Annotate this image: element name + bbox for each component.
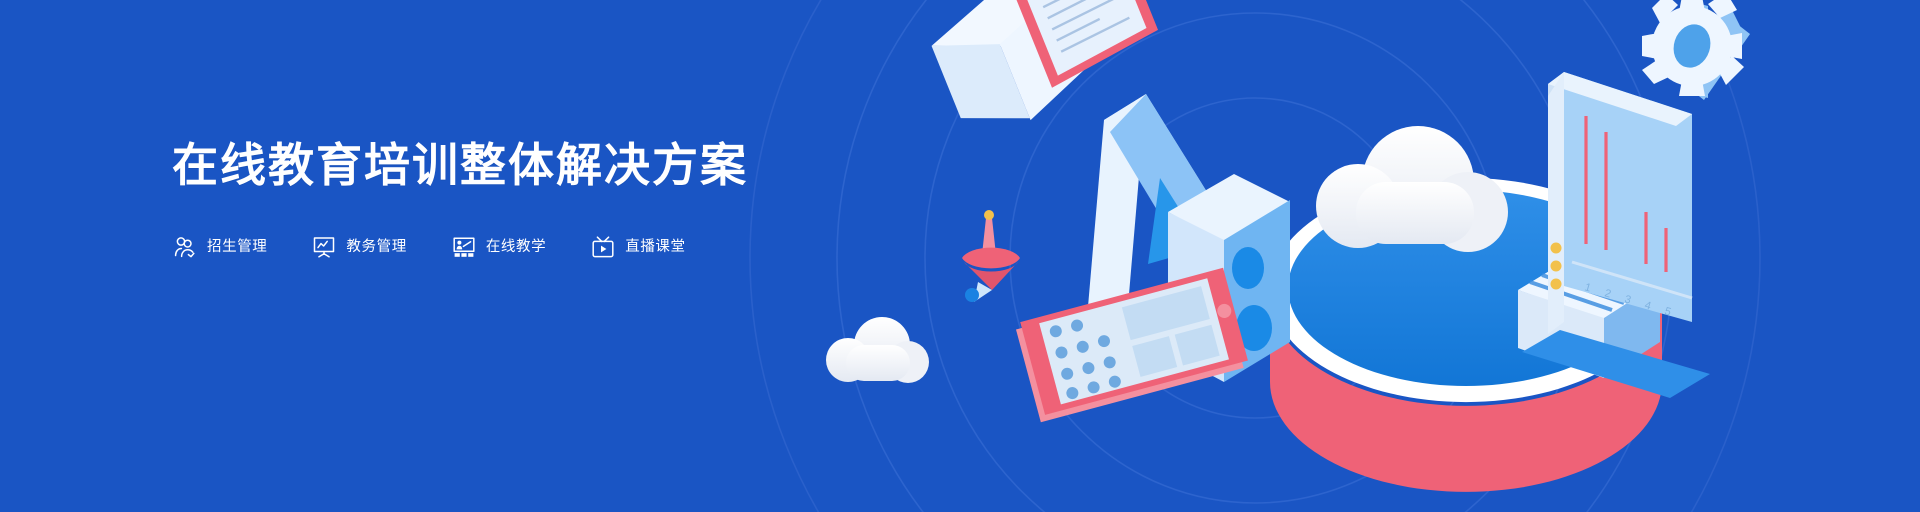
feature-item-live-classroom[interactable]: 直播课堂: [590, 234, 685, 260]
feature-item-academic-affairs[interactable]: 教务管理: [311, 234, 406, 260]
cloud-small: [826, 317, 929, 383]
enrollment-people-icon: [172, 234, 198, 260]
classroom-teaching-icon: [451, 234, 477, 260]
spinning-top: [962, 210, 1020, 302]
gear: [1642, 0, 1750, 100]
cloud-large: [1316, 126, 1508, 252]
feature-label: 在线教学: [486, 240, 546, 255]
feature-item-enrollment[interactable]: 招生管理: [172, 234, 267, 260]
feature-item-online-teaching[interactable]: 在线教学: [451, 234, 546, 260]
feature-label: 教务管理: [346, 240, 406, 255]
page-title: 在线教育培训整体解决方案: [172, 138, 872, 192]
education-hero-banner: 1 2 3 4 5: [0, 0, 1920, 512]
feature-label: 招生管理: [207, 240, 267, 255]
banner-copy: 在线教育培训整体解决方案 招生管理: [172, 138, 872, 260]
tv-play-icon: [590, 234, 616, 260]
tablet-calculator: [1014, 268, 1249, 422]
chart-board-icon: [311, 234, 337, 260]
feature-label: 直播课堂: [625, 240, 685, 255]
feature-list: 招生管理 教务管理: [172, 234, 872, 260]
monitor-with-bar-chart: 1 2 3 4 5: [1522, 72, 1710, 398]
